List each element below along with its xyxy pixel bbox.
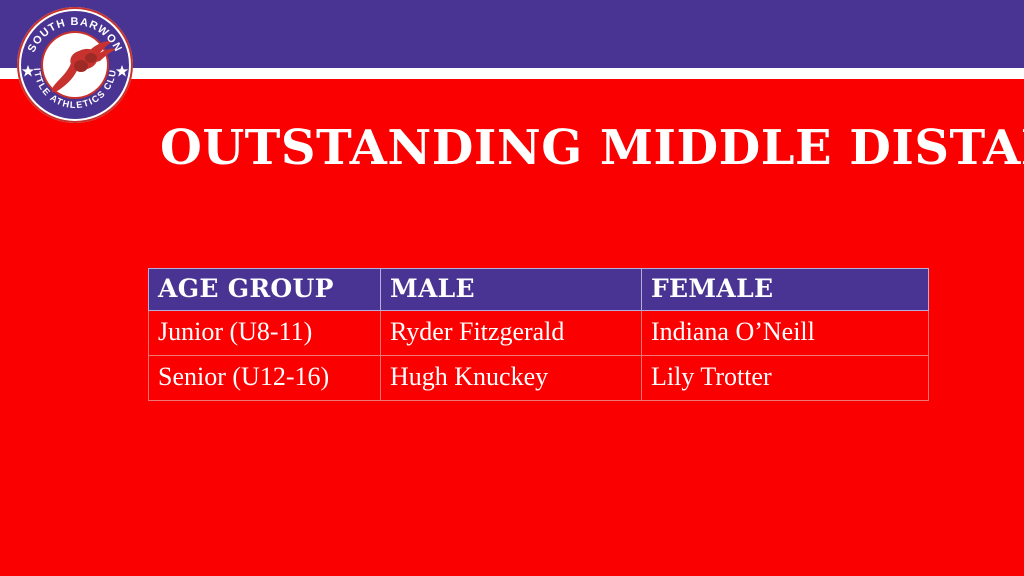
cell-female-winner: Indiana O’Neill xyxy=(642,311,929,356)
column-header-age-group: AGE GROUP xyxy=(149,269,381,311)
cell-female-winner: Lily Trotter xyxy=(642,356,929,401)
award-winners-table: AGE GROUP MALE FEMALE Junior (U8-11) Ryd… xyxy=(148,268,929,401)
cell-male-winner: Hugh Knuckey xyxy=(381,356,642,401)
table-header-row: AGE GROUP MALE FEMALE xyxy=(149,269,929,311)
white-divider-stripe xyxy=(0,68,1024,79)
club-logo: SOUTH BARWON LITTLE ATHLETICS CLUB xyxy=(17,7,133,123)
logo-top-arc-text: SOUTH BARWON xyxy=(26,16,124,54)
logo-artwork: SOUTH BARWON LITTLE ATHLETICS CLUB xyxy=(17,7,133,123)
column-header-male: MALE xyxy=(381,269,642,311)
cell-age-group: Junior (U8-11) xyxy=(149,311,381,356)
cell-age-group: Senior (U12-16) xyxy=(149,356,381,401)
table-row: Senior (U12-16) Hugh Knuckey Lily Trotte… xyxy=(149,356,929,401)
cell-male-winner: Ryder Fitzgerald xyxy=(381,311,642,356)
slide-title: OUTSTANDING MIDDLE DISTANCE xyxy=(160,118,1000,178)
top-purple-band xyxy=(0,0,1024,68)
presentation-slide: SOUTH BARWON LITTLE ATHLETICS CLUB OUTST… xyxy=(0,0,1024,576)
column-header-female: FEMALE xyxy=(642,269,929,311)
table-row: Junior (U8-11) Ryder Fitzgerald Indiana … xyxy=(149,311,929,356)
